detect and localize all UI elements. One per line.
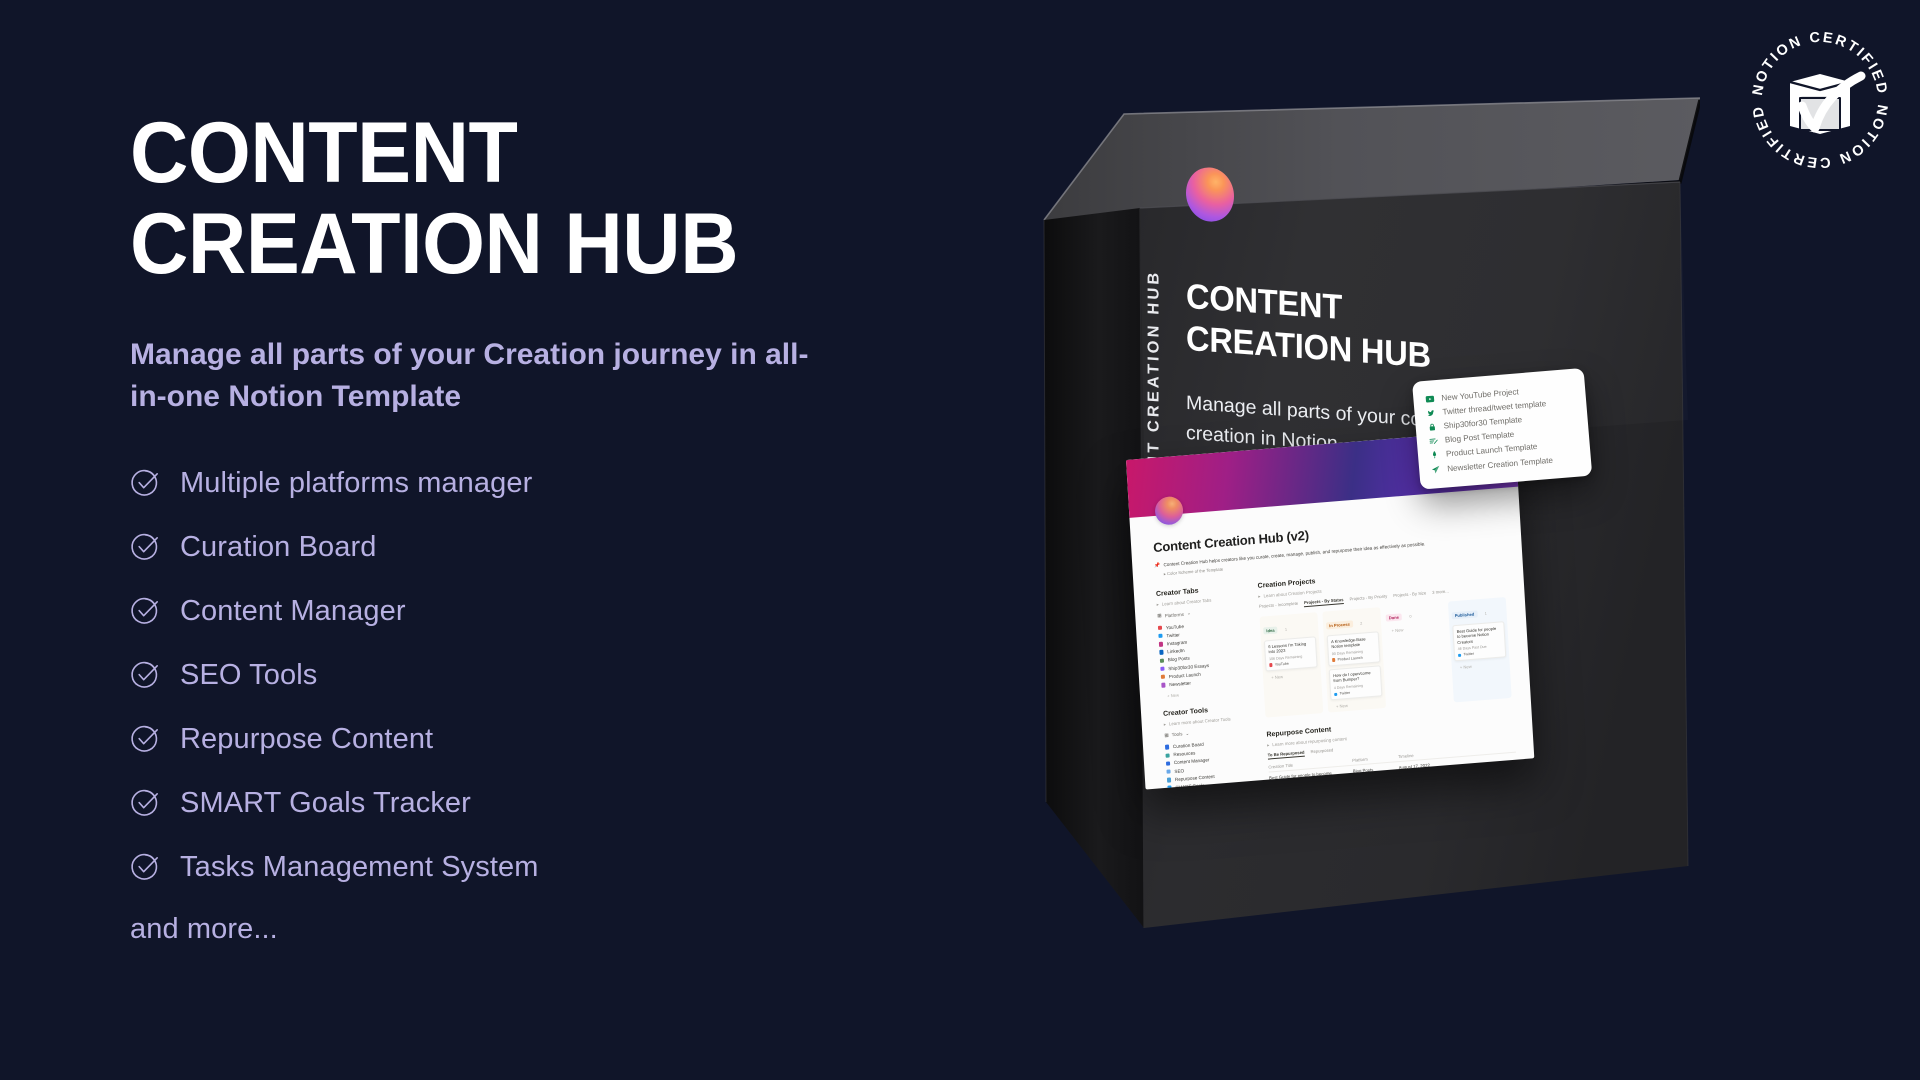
check-circle-icon (130, 660, 160, 690)
list-item-label: Multiple platforms manager (180, 467, 532, 500)
page-title: CONTENT CREATION HUB (130, 108, 960, 290)
list-item: Tasks Management System (130, 835, 960, 899)
box-geometry (1040, 60, 1700, 1020)
list-item-label: SMART Goals Tracker (180, 787, 471, 820)
hero-subtitle: Manage all parts of your Creation journe… (130, 334, 820, 417)
check-circle-icon (130, 596, 160, 626)
product-box-mockup: CONTENT CREATION HUB CONTENT CREATION HU… (1040, 60, 1700, 1020)
list-item: Curation Board (130, 515, 960, 579)
list-item: SEO Tools (130, 643, 960, 707)
list-item: Multiple platforms manager (130, 451, 960, 515)
check-circle-icon (130, 724, 160, 754)
list-item-label: Curation Board (180, 531, 376, 564)
list-item-label: SEO Tools (180, 659, 317, 692)
check-circle-icon (130, 468, 160, 498)
and-more-label: and more... (130, 913, 960, 946)
list-item-label: Repurpose Content (180, 723, 433, 756)
notion-certified-badge-icon: NOTION CERTIFIED NOTION CERTIFIED (1742, 22, 1898, 178)
headline-line-1: CONTENT (130, 108, 910, 199)
list-item: Repurpose Content (130, 707, 960, 771)
check-circle-icon (130, 788, 160, 818)
check-circle-icon (130, 532, 160, 562)
headline-line-2: CREATION HUB (130, 199, 910, 290)
check-circle-icon (130, 852, 160, 882)
list-item-label: Content Manager (180, 595, 406, 628)
list-item: SMART Goals Tracker (130, 771, 960, 835)
list-item-label: Tasks Management System (180, 851, 539, 884)
hero-section: CONTENT CREATION HUB Manage all parts of… (130, 108, 960, 946)
feature-list: Multiple platforms manager Curation Boar… (130, 451, 960, 899)
list-item: Content Manager (130, 579, 960, 643)
